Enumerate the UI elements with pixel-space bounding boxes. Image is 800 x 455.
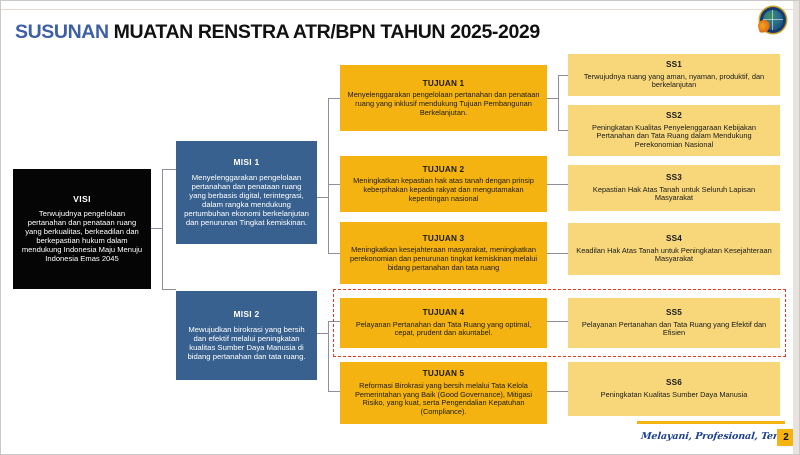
right-edge-strip: [793, 1, 799, 455]
sasaran-ss5-box[interactable]: SS5 Pelayanan Pertanahan dan Tata Ruang …: [568, 298, 780, 348]
ss2-heading: SS2: [666, 111, 682, 121]
connector-visi-vertical: [162, 169, 163, 289]
sasaran-ss1-box[interactable]: SS1 Terwujudnya ruang yang aman, nyaman,…: [568, 54, 780, 96]
page-title-rest: MUATAN RENSTRA ATR/BPN TAHUN 2025-2029: [114, 21, 540, 43]
connector-misi2-vertical: [328, 321, 329, 391]
ss2-body: Peningkatan Kualitas Penyelenggaraan Keb…: [575, 124, 773, 150]
misi-2-box[interactable]: MISI 2 Mewujudkan birokrasi yang bersih …: [176, 291, 317, 380]
connector-misi1-vertical: [328, 98, 329, 253]
misi-2-heading: MISI 2: [233, 310, 259, 320]
connector-tujuan2-in: [328, 184, 340, 185]
ss1-heading: SS1: [666, 60, 682, 70]
connector-tujuan2-to-ss3: [547, 184, 569, 185]
tujuan-5-heading: TUJUAN 5: [423, 369, 465, 379]
ss3-body: Kepastian Hak Atas Tanah untuk Seluruh L…: [575, 186, 773, 203]
connector-tujuan4-in: [328, 321, 340, 322]
visi-box[interactable]: VISI Terwujudnya pengelolaan pertanahan …: [13, 169, 151, 289]
sasaran-ss4-box[interactable]: SS4 Keadilan Hak Atas Tanah untuk Pening…: [568, 223, 780, 275]
misi-1-heading: MISI 1: [233, 158, 259, 168]
connector-tujuan1-in: [328, 98, 340, 99]
tujuan-5-box[interactable]: TUJUAN 5 Reformasi Birokrasi yang bersih…: [340, 362, 547, 424]
ss4-heading: SS4: [666, 234, 682, 244]
tujuan-1-heading: TUJUAN 1: [423, 79, 465, 89]
visi-heading: VISI: [73, 194, 91, 204]
misi-2-body: Mewujudkan birokrasi yang bersih dan efe…: [183, 325, 310, 361]
ss5-body: Pelayanan Pertanahan dan Tata Ruang yang…: [575, 321, 773, 338]
tujuan-1-body: Menyelenggarakan pengelolaan pertanahan …: [347, 91, 540, 117]
connector-tujuan3-to-ss4: [547, 253, 569, 254]
ss1-body: Terwujudnya ruang yang aman, nyaman, pro…: [575, 73, 773, 90]
tujuan-3-body: Meningkatkan kesejahteraan masyarakat, m…: [347, 246, 540, 272]
tujuan-4-body: Pelayanan Pertanahan dan Tata Ruang yang…: [347, 321, 540, 338]
sasaran-ss6-box[interactable]: SS6 Peningkatan Kualitas Sumber Daya Man…: [568, 362, 780, 416]
ss5-heading: SS5: [666, 308, 682, 318]
page-title-highlight: SUSUNAN: [15, 21, 109, 43]
connector-ss1-in: [558, 75, 568, 76]
connector-ss2-in: [558, 130, 568, 131]
ss3-heading: SS3: [666, 173, 682, 183]
ss4-body: Keadilan Hak Atas Tanah untuk Peningkata…: [575, 247, 773, 264]
connector-tujuan5-to-ss6: [547, 391, 569, 392]
slide-canvas: SUSUNAN MUATAN RENSTRA ATR/BPN TAHUN 202…: [0, 0, 800, 455]
connector-tujuan5-in: [328, 391, 340, 392]
sasaran-ss2-box[interactable]: SS2 Peningkatan Kualitas Penyelenggaraan…: [568, 105, 780, 156]
tujuan-2-box[interactable]: TUJUAN 2 Meningkatkan kepastian hak atas…: [340, 156, 547, 212]
tujuan-4-box[interactable]: TUJUAN 4 Pelayanan Pertanahan dan Tata R…: [340, 298, 547, 348]
tujuan-1-box[interactable]: TUJUAN 1 Menyelenggarakan pengelolaan pe…: [340, 65, 547, 131]
sasaran-ss3-box[interactable]: SS3 Kepastian Hak Atas Tanah untuk Selur…: [568, 165, 780, 211]
tujuan-2-heading: TUJUAN 2: [423, 165, 465, 175]
page-title: SUSUNAN MUATAN RENSTRA ATR/BPN TAHUN 202…: [15, 21, 540, 44]
tujuan-4-heading: TUJUAN 4: [423, 308, 465, 318]
connector-tujuan4-to-ss5: [547, 321, 569, 322]
connector-misi1-in: [162, 169, 176, 170]
connector-misi2-in: [162, 289, 176, 290]
visi-body: Terwujudnya pengelolaan pertanahan dan p…: [20, 210, 144, 264]
misi-1-body: Menyelenggarakan pengelolaan pertanahan …: [183, 173, 310, 227]
connector-tujuan1-vertical: [558, 75, 559, 130]
tujuan-3-heading: TUJUAN 3: [423, 234, 465, 244]
tujuan-2-body: Meningkatkan kepastian hak atas tanah de…: [347, 177, 540, 203]
misi-1-box[interactable]: MISI 1 Menyelenggarakan pengelolaan pert…: [176, 141, 317, 244]
tujuan-3-box[interactable]: TUJUAN 3 Meningkatkan kesejahteraan masy…: [340, 222, 547, 284]
ss6-body: Peningkatan Kualitas Sumber Daya Manusia: [601, 391, 748, 400]
header-divider: [1, 9, 800, 10]
connector-tujuan3-in: [328, 253, 340, 254]
tujuan-5-body: Reformasi Birokrasi yang bersih melalui …: [347, 382, 540, 417]
ss6-heading: SS6: [666, 378, 682, 388]
atr-bpn-emblem-icon: [758, 5, 788, 35]
footer-accent-bar: [637, 421, 785, 424]
